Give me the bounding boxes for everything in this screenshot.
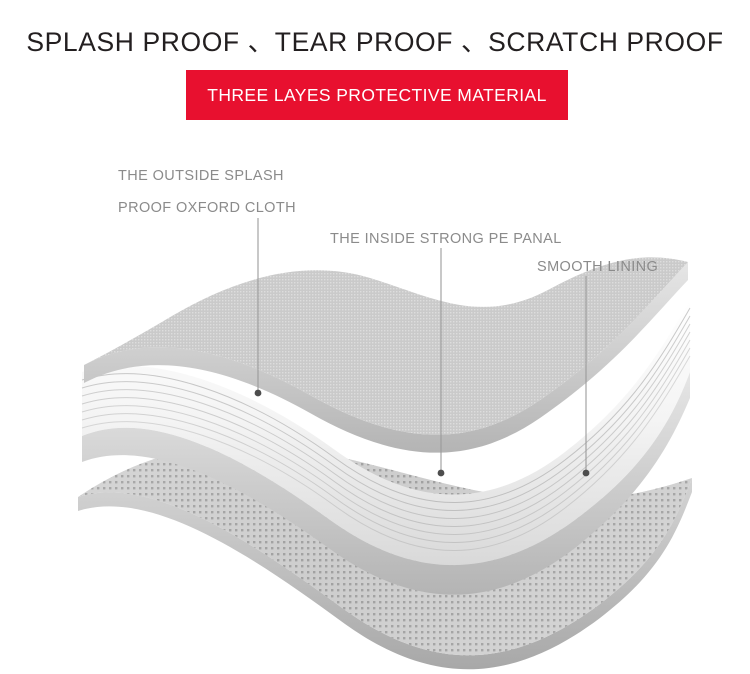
callout-middle-line1: THE INSIDE STRONG PE PANAL [330,231,562,247]
leader-dot-outer [255,390,262,397]
callout-outer-layer: THE OUTSIDE SPLASH PROOF OXFORD CLOTH [118,160,296,224]
leader-dot-inner [583,470,590,477]
callout-inner-layer: SMOOTH LINING [537,251,658,283]
callout-inner-line1: SMOOTH LINING [537,259,658,275]
callout-middle-layer: THE INSIDE STRONG PE PANAL [330,223,562,255]
callout-outer-line2: PROOF OXFORD CLOTH [118,192,296,224]
callout-outer-line1: THE OUTSIDE SPLASH [118,168,284,184]
infographic-page: SPLASH PROOF 、TEAR PROOF 、SCRATCH PROOF … [0,0,750,674]
three-layer-diagram [0,0,750,674]
leader-dot-middle [438,470,445,477]
